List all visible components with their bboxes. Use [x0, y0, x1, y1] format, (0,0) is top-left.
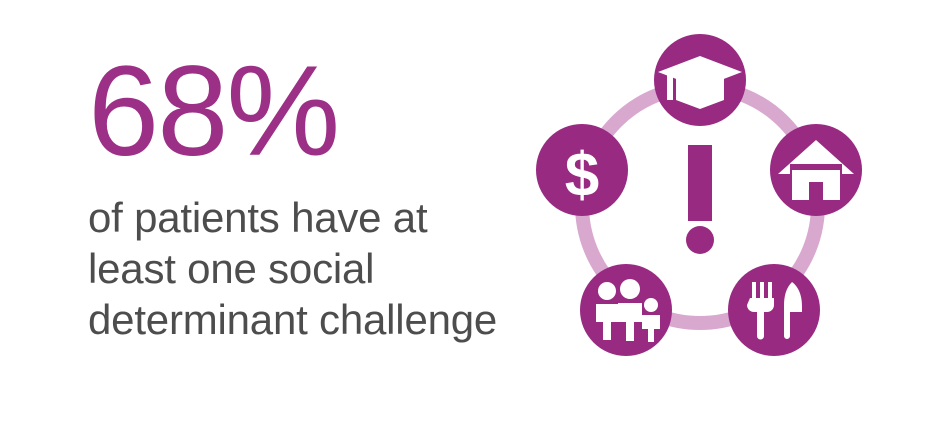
stat-text-block: 68% of patients have at least one social…: [88, 48, 558, 346]
caption-line-3: determinant challenge: [88, 294, 558, 345]
social-determinants-diagram: $: [520, 10, 920, 410]
caption-line-2: least one social: [88, 243, 558, 294]
node-education[interactable]: [654, 34, 746, 126]
node-finances[interactable]: $: [536, 124, 628, 216]
node-food-circle: [728, 264, 820, 356]
stat-caption: of patients have at least one social det…: [88, 192, 558, 346]
dollar-sign-icon: $: [565, 141, 599, 210]
infographic-canvas: 68% of patients have at least one social…: [0, 0, 930, 421]
svg-text:$: $: [565, 141, 599, 210]
exclamation-mark-icon: [686, 145, 714, 254]
stat-percentage: 68%: [88, 48, 558, 176]
node-housing[interactable]: [770, 124, 862, 216]
node-food[interactable]: [728, 264, 820, 356]
node-family[interactable]: [580, 264, 672, 356]
caption-line-1: of patients have at: [88, 192, 558, 243]
